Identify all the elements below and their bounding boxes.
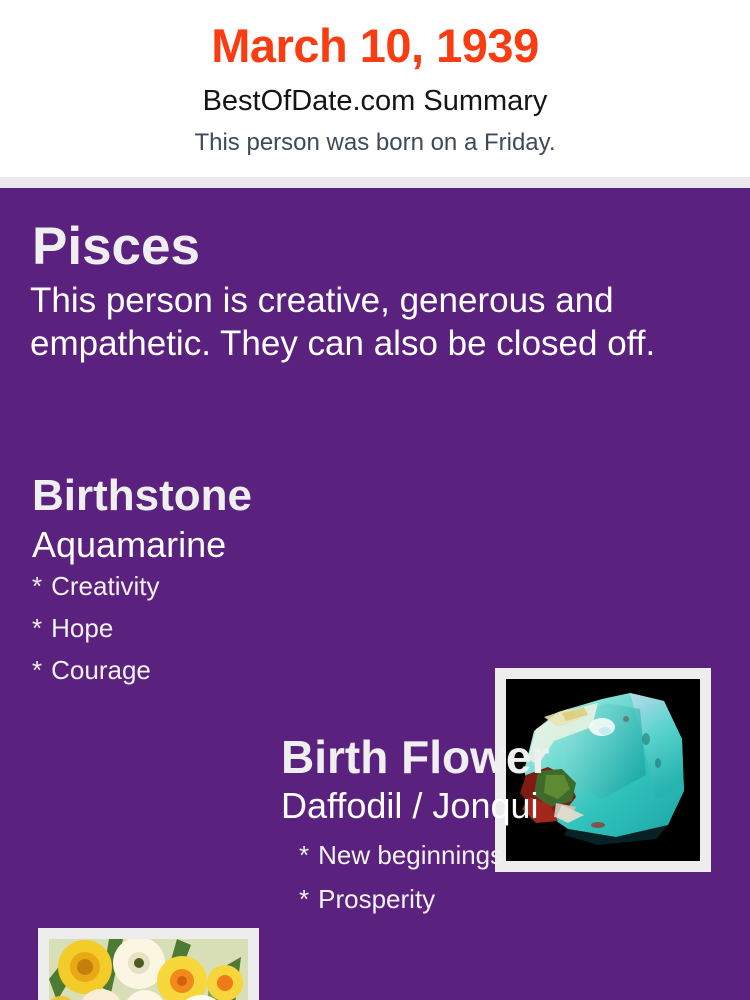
birthstone-name: Aquamarine (32, 527, 472, 563)
birth-flower-heading: Birth Flower (281, 734, 731, 780)
bullet-star-icon: * (32, 615, 42, 641)
birth-flower-section: Birth Flower Daffodil / Jonqui *New begi… (281, 734, 731, 912)
list-item: *Courage (32, 657, 472, 683)
birthstone-trait-label: Creativity (51, 571, 159, 601)
list-item: *New beginnings (299, 842, 731, 868)
birthstone-section: Birthstone Aquamarine *Creativity *Hope … (32, 474, 472, 683)
zodiac-sign-title: Pisces (32, 220, 200, 273)
birth-flower-trait-label: Prosperity (318, 884, 435, 914)
birthstone-trait-label: Hope (51, 613, 113, 643)
birth-flower-trait-label: New beginnings (318, 840, 503, 870)
main-content-panel: Pisces This person is creative, generous… (0, 188, 750, 1000)
birthstone-heading: Birthstone (32, 474, 472, 518)
list-item: *Prosperity (299, 886, 731, 912)
bullet-star-icon: * (299, 886, 309, 912)
bullet-star-icon: * (299, 842, 309, 868)
birth-flower-name: Daffodil / Jonqui (281, 788, 731, 824)
zodiac-description: This person is creative, generous and em… (30, 280, 702, 365)
header-section: March 10, 1939 BestOfDate.com Summary Th… (0, 0, 750, 177)
bullet-star-icon: * (32, 657, 42, 683)
header-divider (0, 177, 750, 188)
bullet-star-icon: * (32, 573, 42, 599)
page-title-date: March 10, 1939 (0, 22, 750, 69)
birthstone-trait-list: *Creativity *Hope *Courage (32, 573, 472, 683)
list-item: *Hope (32, 615, 472, 641)
date-summary-card: March 10, 1939 BestOfDate.com Summary Th… (0, 0, 750, 1000)
birth-flower-trait-list: *New beginnings *Prosperity (281, 842, 731, 912)
site-subtitle: BestOfDate.com Summary (0, 87, 750, 116)
birth-flower-image-frame (38, 928, 259, 1000)
birthstone-trait-label: Courage (51, 655, 151, 685)
list-item: *Creativity (32, 573, 472, 599)
birth-day-note: This person was born on a Friday. (0, 131, 750, 155)
daffodil-flowers-photo (49, 939, 248, 1000)
